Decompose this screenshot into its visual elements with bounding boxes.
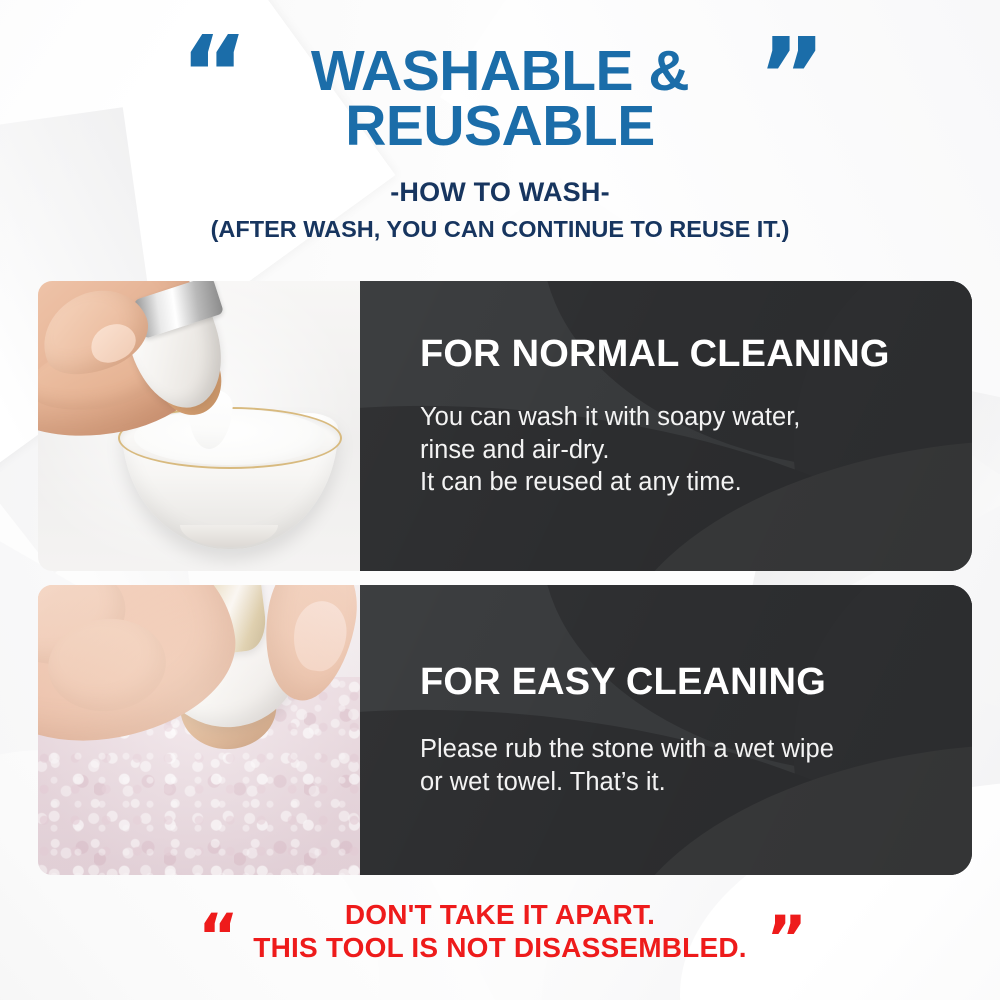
card-body-line-2: or wet towel. That’s it. xyxy=(420,766,972,799)
card-body-line-1: Please rub the stone with a wet wipe xyxy=(420,733,972,766)
page-title: WASHABLE & REUSABLE xyxy=(0,44,1000,155)
headline-line-2: REUSABLE xyxy=(180,99,820,154)
warning-line-2: THIS TOOL IS NOT DISASSEMBLED. xyxy=(0,931,1000,964)
card-body-line-3: It can be reused at any time. xyxy=(420,466,972,499)
quote-close-red-icon: ” xyxy=(766,908,804,970)
headline-row: “ ” WASHABLE & REUSABLE xyxy=(0,0,1000,155)
card-body-normal-cleaning: You can wash it with soapy water, rinse … xyxy=(420,401,972,499)
card-body-line-2: rinse and air-dry. xyxy=(420,434,972,467)
text-panel-normal-cleaning: FOR NORMAL CLEANING You can wash it with… xyxy=(360,281,972,571)
text-panel-easy-cleaning: FOR EASY CLEANING Please rub the stone w… xyxy=(360,585,972,875)
subtitle-note: (AFTER WASH, YOU CAN CONTINUE TO REUSE I… xyxy=(0,216,1000,243)
footer-warning-section: “ ” DON'T TAKE IT APART. THIS TOOL IS NO… xyxy=(0,898,1000,964)
instruction-card-normal-cleaning: FOR NORMAL CLEANING You can wash it with… xyxy=(38,281,972,571)
card-body-line-1: You can wash it with soapy water, xyxy=(420,401,972,434)
infographic-page: “ ” WASHABLE & REUSABLE -HOW TO WASH- (A… xyxy=(0,0,1000,1000)
warning-line-1: DON'T TAKE IT APART. xyxy=(345,899,655,930)
photo-easy-cleaning xyxy=(38,585,360,875)
warning-text: DON'T TAKE IT APART. THIS TOOL IS NOT DI… xyxy=(0,898,1000,964)
subtitle-how-to-wash: -HOW TO WASH- xyxy=(0,177,1000,208)
header-section: “ ” WASHABLE & REUSABLE -HOW TO WASH- (A… xyxy=(0,0,1000,243)
instruction-card-easy-cleaning: FOR EASY CLEANING Please rub the stone w… xyxy=(38,585,972,875)
quote-open-red-icon: “ xyxy=(198,906,236,968)
panel-content: FOR NORMAL CLEANING You can wash it with… xyxy=(360,281,972,499)
panel-content: FOR EASY CLEANING Please rub the stone w… xyxy=(360,585,972,798)
photo-vignette-2 xyxy=(38,585,360,875)
card-body-easy-cleaning: Please rub the stone with a wet wipe or … xyxy=(420,733,972,798)
card-title-normal-cleaning: FOR NORMAL CLEANING xyxy=(420,335,972,373)
card-title-easy-cleaning: FOR EASY CLEANING xyxy=(420,663,972,701)
quote-close-icon: ” xyxy=(758,24,822,128)
photo-normal-cleaning xyxy=(38,281,360,571)
quote-open-icon: “ xyxy=(180,22,244,126)
